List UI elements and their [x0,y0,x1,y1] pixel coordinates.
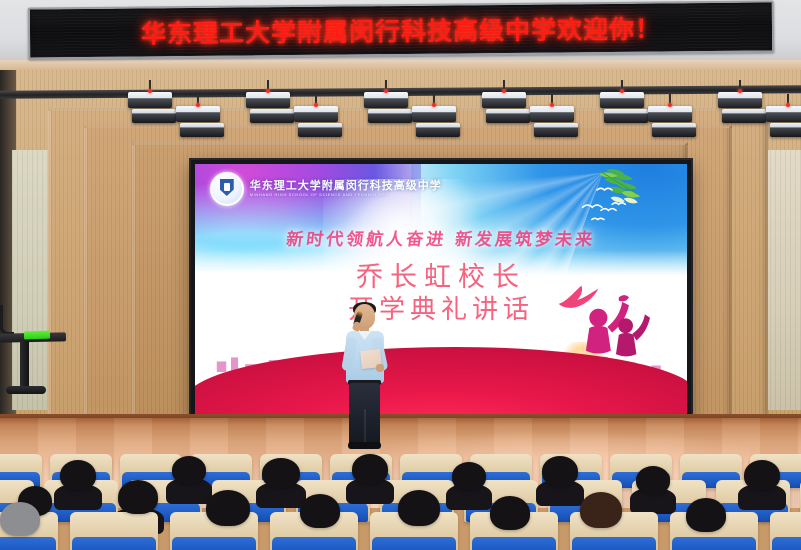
auditorium-photo: 华东理工大学附属闵行科技高级中学欢迎你！ [0,0,801,550]
stage-light [412,106,456,122]
stage-light [600,92,644,108]
stage-light-lower [250,109,294,123]
audience-head [172,456,206,484]
stage-light [766,106,801,122]
audience-area [0,446,801,550]
stage-light-lower [652,123,696,137]
audience-head [542,456,578,486]
podium-base [6,386,46,394]
podium-green-item [24,331,50,340]
auditorium-seat [70,512,158,550]
stage-light [530,106,574,122]
school-name-en: MINHANG HIGH SCHOOL OF SCIENCE AND TECHN… [250,192,442,197]
audience-head [686,498,726,532]
stage-light-lower [770,123,801,137]
podium-stem [20,341,29,389]
screen-title: 乔长虹校长 开学典礼讲话 [195,261,687,327]
stage-light-lower [722,109,766,123]
stage-light-lower [604,109,648,123]
audience-head [452,462,486,490]
audience-head [300,494,340,528]
audience-head [398,490,440,526]
stage-led-screen: 华东理工大学附属闵行科技高级中学 MINHANG HIGH SCHOOL OF … [191,160,691,422]
audience-head [262,458,300,488]
school-emblem-icon [210,172,244,206]
audience-head [490,496,530,530]
stage-light [364,92,408,108]
stage-light [482,92,526,108]
stage-light-lower [132,109,176,123]
auditorium-seat [770,512,801,550]
audience-head [0,502,40,536]
stage-light [176,106,220,122]
led-banner-text: 华东理工大学附属闵行科技高级中学欢迎你！ [141,10,661,51]
stage-light-lower [486,109,530,123]
screen-title-line2: 开学典礼讲话 [195,294,687,327]
stage-light [648,106,692,122]
speaker-paper-hand [376,364,384,372]
audience-head [206,490,250,526]
screen-slogan: 新时代领航人奋进 新发展筑梦未来 [195,225,687,250]
screen-title-line1: 乔长虹校长 [195,261,687,295]
screen-content: 华东理工大学附属闵行科技高级中学 MINHANG HIGH SCHOOL OF … [195,164,687,418]
audience-head [118,480,158,514]
stage-light-lower [534,123,578,137]
audience-head [60,460,96,490]
stage-light [246,92,290,108]
audience-head [580,492,622,528]
stage-light-lower [180,123,224,137]
stage-light-lower [298,123,342,137]
audience-head [744,460,780,490]
school-name-cn: 华东理工大学附属闵行科技高级中学 [250,180,442,192]
speaker-trousers [349,383,380,445]
stage-light [718,92,762,108]
screen-header: 华东理工大学附属闵行科技高级中学 MINHANG HIGH SCHOOL OF … [210,172,442,206]
led-welcome-banner: 华东理工大学附属闵行科技高级中学欢迎你！ [28,0,774,59]
stage-light [294,106,338,122]
podium-mic-stand [0,305,14,335]
speaker-principal [337,304,393,452]
school-name-block: 华东理工大学附属闵行科技高级中学 MINHANG HIGH SCHOOL OF … [250,180,442,197]
stage-light-lower [416,123,460,137]
audience-head [636,466,670,494]
stage-light [128,92,172,108]
audience-head [352,454,388,484]
stage-light-lower [368,109,412,123]
